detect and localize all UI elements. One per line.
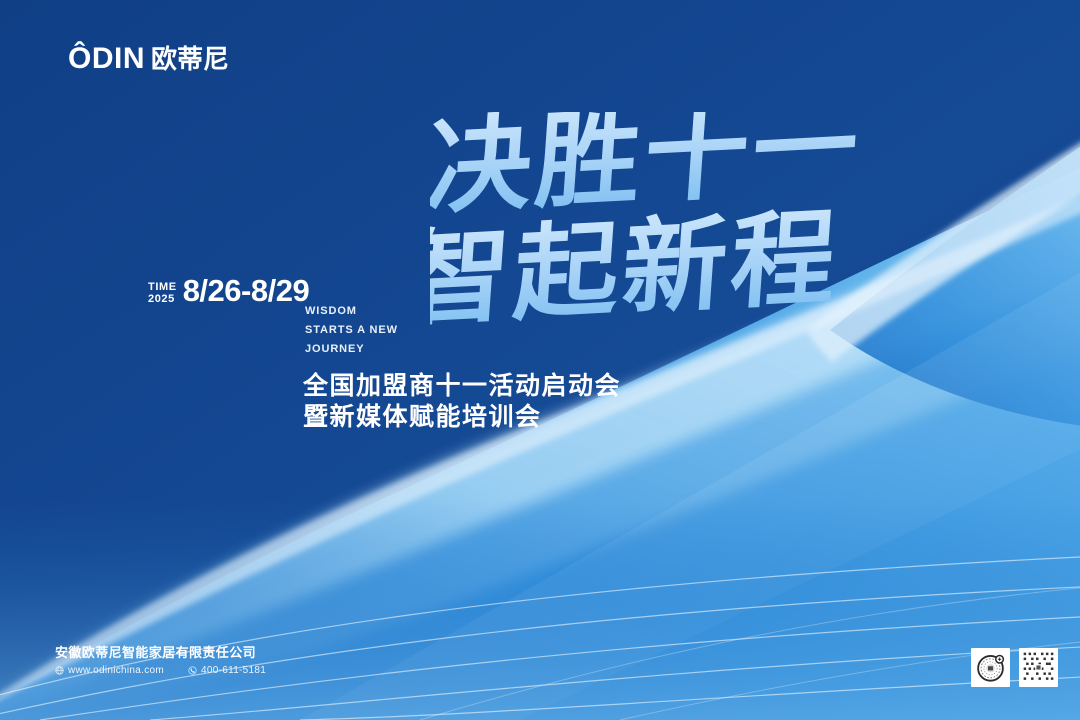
- date-label-time: TIME: [148, 281, 177, 293]
- poster-canvas: ÔDIN 欧蒂尼 决胜十一 智起新程 决胜十一 智起新程 TIME 2025 8…: [0, 0, 1080, 720]
- footer-block: 安徽欧蒂尼智能家居有限责任公司 www.odinichina.com 400-6…: [55, 645, 266, 676]
- contact-row: www.odinichina.com 400-611-5181: [55, 665, 266, 676]
- date-range: 8/26-8/29: [183, 276, 310, 306]
- wechat-mini-qr[interactable]: [1019, 648, 1058, 687]
- wechat-mini-qr-icon: [1022, 651, 1055, 684]
- phone-icon: [188, 666, 197, 675]
- background-artwork: [0, 0, 1080, 720]
- globe-icon: [55, 666, 64, 675]
- date-label-stack: TIME 2025: [148, 276, 177, 305]
- brand-logo: ÔDIN 欧蒂尼: [68, 44, 229, 74]
- event-subtitle: 全国加盟商十一活动启动会 暨新媒体赋能培训会: [303, 371, 621, 433]
- headline-calligraphy: 决胜十一 智起新程 决胜十一 智起新程: [430, 112, 930, 352]
- wechat-official-qr-icon: [974, 651, 1007, 684]
- website-text: www.odinichina.com: [68, 665, 164, 676]
- brand-logo-cn: 欧蒂尼: [151, 46, 229, 72]
- tagline-line-1: WISDOM: [305, 302, 398, 321]
- subtitle-line-2: 暨新媒体赋能培训会: [303, 402, 621, 433]
- event-date: TIME 2025 8/26-8/29: [148, 276, 309, 306]
- phone-item: 400-611-5181: [188, 665, 266, 676]
- qr-code-group: [971, 648, 1058, 687]
- tagline-line-3: JOURNEY: [305, 340, 398, 359]
- website-item: www.odinichina.com: [55, 665, 164, 676]
- brand-logo-mark: ÔDIN: [68, 44, 145, 74]
- subtitle-line-1: 全国加盟商十一活动启动会: [303, 371, 621, 402]
- headline-line2-glyphs: 智起新程: [430, 196, 844, 341]
- tagline-line-2: STARTS A NEW: [305, 321, 398, 340]
- phone-text: 400-611-5181: [201, 665, 266, 676]
- company-name: 安徽欧蒂尼智能家居有限责任公司: [55, 645, 266, 661]
- english-tagline: WISDOM STARTS A NEW JOURNEY: [305, 302, 398, 359]
- wechat-official-qr[interactable]: [971, 648, 1010, 687]
- date-label-year: 2025: [148, 293, 177, 305]
